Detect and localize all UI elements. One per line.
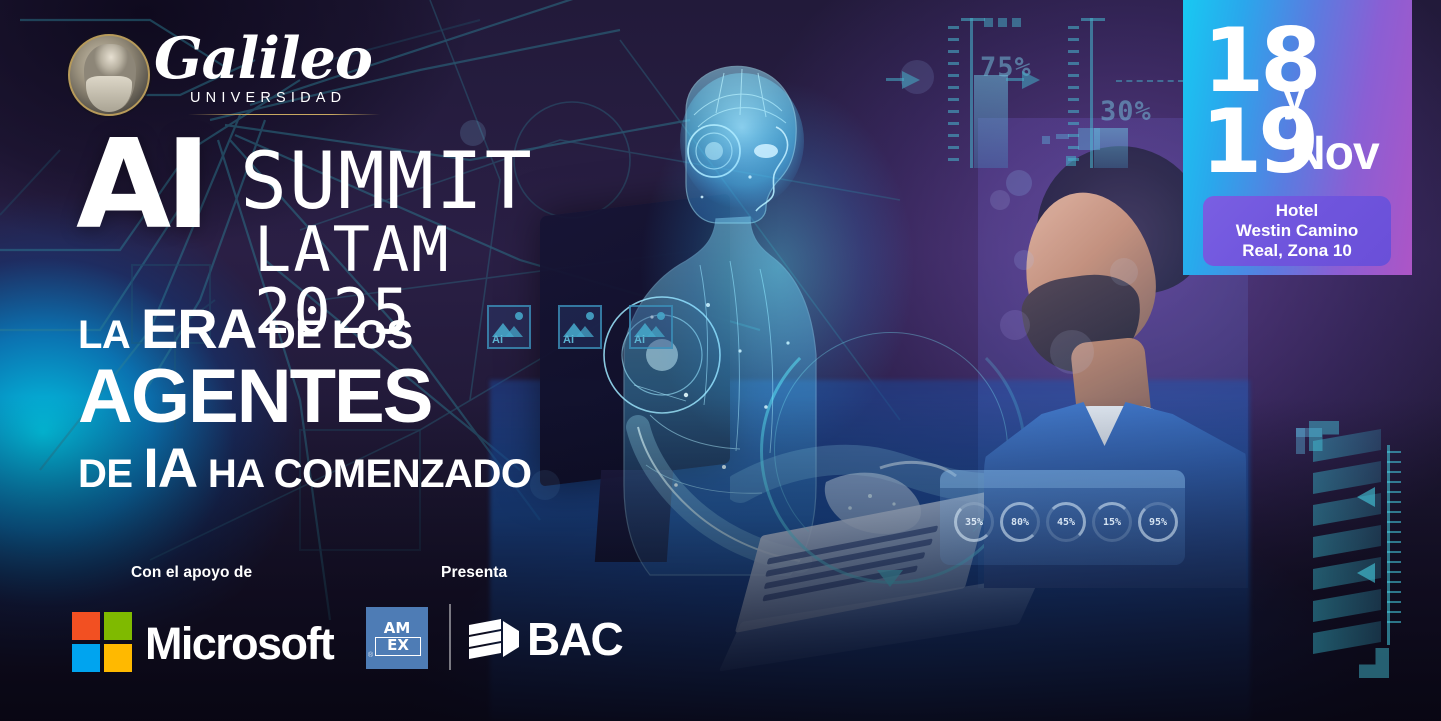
ruler-tick bbox=[1387, 461, 1401, 463]
ruler-tick bbox=[1387, 451, 1401, 453]
galileo-logo: Galileo UNIVERSIDAD bbox=[68, 28, 388, 120]
decor-stripe bbox=[1313, 589, 1381, 622]
logo-underline bbox=[188, 114, 380, 115]
ms-square-yellow bbox=[104, 644, 132, 672]
donut-gauge: 15% bbox=[1092, 502, 1132, 542]
galileo-bust-icon bbox=[68, 34, 150, 116]
presents-label: Presenta bbox=[441, 564, 507, 582]
tagline-la: LA bbox=[78, 313, 130, 357]
donut-gauge: 35% bbox=[954, 502, 994, 542]
corner-bracket-icon bbox=[1359, 648, 1389, 678]
amex-registered-mark: ® bbox=[368, 652, 373, 659]
ms-square-green bbox=[104, 612, 132, 640]
date-month: Nov bbox=[1291, 130, 1379, 178]
ruler-tick bbox=[1387, 591, 1401, 593]
ruler-tick bbox=[1387, 581, 1401, 583]
ruler-tick bbox=[1387, 471, 1401, 473]
amex-inner: AM EX ® bbox=[375, 619, 419, 657]
amex-ex-text: EX bbox=[375, 637, 421, 656]
gauge-pointer-tail bbox=[886, 78, 904, 81]
ai-image-icon: Ai bbox=[629, 305, 673, 349]
gauge-scale bbox=[948, 18, 959, 168]
gauge-pointer-tail bbox=[1006, 78, 1024, 81]
hud-block bbox=[1078, 128, 1100, 150]
venue-badge: Hotel Westin Camino Real, Zona 10 bbox=[1203, 196, 1391, 266]
tagline-line-2: AGENTES bbox=[78, 357, 531, 437]
bust-beard bbox=[86, 76, 132, 112]
logo-subtitle: UNIVERSIDAD bbox=[190, 90, 346, 106]
sun-icon bbox=[657, 312, 665, 320]
tagline-line-3: DE IA HA COMENZADO bbox=[78, 435, 531, 500]
ms-square-blue bbox=[72, 644, 100, 672]
logo-wordmark: Galileo bbox=[154, 30, 372, 87]
tagline-era: ERA bbox=[141, 297, 256, 360]
tagline-de: DE bbox=[78, 452, 133, 496]
sponsor-divider bbox=[449, 604, 451, 670]
tagline-ha-comenzado: HA COMENZADO bbox=[208, 452, 532, 496]
mountain-icon bbox=[576, 326, 594, 337]
ruler-tick bbox=[1387, 501, 1401, 503]
decor-stripe bbox=[1313, 621, 1381, 654]
microsoft-logo-icon bbox=[72, 612, 134, 674]
hud-gauge-75: 75% bbox=[948, 18, 1068, 168]
donut-gauge: 80% bbox=[1000, 502, 1040, 542]
donut-value-label: 80% bbox=[1000, 502, 1040, 542]
donut-gauge: 95% bbox=[1138, 502, 1178, 542]
tagline-de-los: DE LOS bbox=[267, 313, 413, 357]
bac-logo-icon bbox=[467, 617, 521, 661]
ruler-tick bbox=[1387, 491, 1401, 493]
gauge-status-dots bbox=[984, 18, 1021, 27]
ruler-line bbox=[1387, 445, 1390, 645]
donut-value-label: 95% bbox=[1138, 502, 1178, 542]
gauge-foot-block bbox=[1066, 156, 1076, 166]
ruler-tick bbox=[1387, 561, 1401, 563]
ms-square-red bbox=[72, 612, 100, 640]
venue-line-3: Real, Zona 10 bbox=[1236, 241, 1358, 261]
title-summit: SUMMIT bbox=[240, 143, 534, 221]
event-banner: 75% 30% Ai bbox=[0, 0, 1441, 721]
gauge-dashed-guide bbox=[1116, 80, 1184, 82]
ruler-marker-icon bbox=[1357, 487, 1375, 507]
amex-am-text: AM bbox=[375, 619, 419, 637]
hud-block bbox=[1056, 134, 1069, 139]
donut-value-label: 35% bbox=[954, 502, 994, 542]
ruler-tick bbox=[1387, 511, 1401, 513]
ruler-tick bbox=[1387, 531, 1401, 533]
right-edge-decoration bbox=[1291, 395, 1441, 721]
ruler-tick bbox=[1387, 551, 1401, 553]
venue-line-1: Hotel bbox=[1236, 201, 1358, 221]
ruler-marker-icon bbox=[1357, 563, 1375, 583]
event-tagline: LA ERA DE LOS AGENTES DE IA HA COMENZADO bbox=[78, 296, 531, 500]
hud-ruler bbox=[1375, 445, 1401, 645]
ruler-tick bbox=[1387, 541, 1401, 543]
sun-icon bbox=[586, 312, 594, 320]
venue-line-2: Westin Camino bbox=[1236, 221, 1358, 241]
venue-text: Hotel Westin Camino Real, Zona 10 bbox=[1236, 201, 1358, 261]
gauge-axis bbox=[970, 18, 973, 168]
decor-stripe bbox=[1313, 525, 1381, 558]
ruler-tick bbox=[1387, 521, 1401, 523]
hud-block bbox=[1042, 136, 1050, 144]
gauge-cap bbox=[961, 18, 985, 21]
tagline-line-1: LA ERA DE LOS bbox=[78, 296, 531, 361]
gauge-bar-fill bbox=[974, 75, 1008, 168]
ai-image-icon: Ai bbox=[558, 305, 602, 349]
ai-icon-label: Ai bbox=[634, 334, 645, 346]
ruler-tick bbox=[1387, 481, 1401, 483]
ruler-tick bbox=[1387, 611, 1401, 613]
gauge-pointer-icon bbox=[902, 71, 920, 89]
gauge-pointer-icon bbox=[1022, 71, 1040, 89]
title-ai: AI bbox=[76, 133, 205, 239]
gauge-cap bbox=[1081, 18, 1105, 21]
ruler-tick bbox=[1387, 601, 1401, 603]
gauge-value-label: 30% bbox=[1100, 96, 1152, 127]
ai-icon-label: Ai bbox=[563, 334, 574, 346]
support-label: Con el apoyo de bbox=[131, 564, 252, 582]
hud-donut-gauge-row: 35% 80% 45% 15% 95% bbox=[940, 470, 1190, 570]
donut-value-label: 15% bbox=[1092, 502, 1132, 542]
donut-value-label: 45% bbox=[1046, 502, 1086, 542]
ruler-tick bbox=[1387, 621, 1401, 623]
amex-logo-icon: AM EX ® bbox=[366, 607, 428, 669]
microsoft-wordmark: Microsoft bbox=[145, 618, 333, 670]
donut-panel-titlebar bbox=[940, 470, 1185, 488]
tagline-ia: IA bbox=[143, 436, 197, 499]
event-date-panel: 18 y 19 Nov Hotel Westin Camino Real, Zo… bbox=[1183, 0, 1412, 275]
bac-wordmark: BAC bbox=[527, 612, 622, 666]
ruler-tick bbox=[1387, 571, 1401, 573]
mountain-icon bbox=[647, 326, 665, 337]
donut-gauge: 45% bbox=[1046, 502, 1086, 542]
